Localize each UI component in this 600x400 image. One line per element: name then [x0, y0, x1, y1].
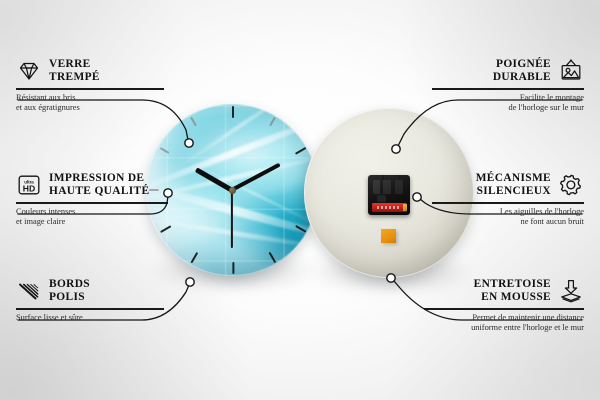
feature-divider — [16, 88, 164, 89]
feature-description: Permet de maintenir une distance uniform… — [424, 313, 584, 334]
second-hand — [231, 190, 233, 248]
feature-header: BORDS POLIS — [16, 278, 164, 305]
feature-verre-trempe: VERRE TREMPÉ Résistant aux bris et aux é… — [16, 58, 164, 114]
feature-poignee-durable: POIGNÉE DURABLE Facilite le montage de l… — [432, 58, 584, 114]
hands-center-cap — [229, 187, 236, 194]
feature-impression-haute-qualite: ultra HD IMPRESSION DE HAUTE QUALITÉ Cou… — [16, 172, 168, 228]
ultra-hd-icon-main-text: HD — [23, 184, 35, 194]
gear-icon — [558, 172, 584, 198]
aa-battery — [372, 203, 407, 212]
feature-header: ENTRETOISE EN MOUSSE — [424, 278, 584, 305]
ultra-hd-icon: ultra HD — [16, 172, 42, 198]
feature-description: Facilite le montage de l'horloge sur le … — [432, 93, 584, 114]
feature-title: ENTRETOISE EN MOUSSE — [474, 278, 551, 305]
feature-title: IMPRESSION DE HAUTE QUALITÉ — [49, 172, 149, 199]
feature-description: Surface lisse et sûre — [16, 313, 164, 323]
foam-spacer-icon — [558, 278, 584, 304]
clock-front-face[interactable] — [146, 104, 318, 276]
quartz-mechanism-box — [368, 175, 410, 215]
feature-title: POIGNÉE DURABLE — [493, 58, 551, 85]
feature-mecanisme-silencieux: MÉCANISME SILENCIEUX Les aiguilles de l'… — [432, 172, 584, 228]
feature-entretoise-en-mousse: ENTRETOISE EN MOUSSE Permet de maintenir… — [424, 278, 584, 334]
battery-label — [377, 206, 399, 209]
feature-header: ultra HD IMPRESSION DE HAUTE QUALITÉ — [16, 172, 168, 199]
polished-edges-icon — [16, 278, 42, 304]
feature-description: Résistant aux bris et aux égratignures — [16, 93, 164, 114]
feature-description: Les aiguilles de l'horloge ne font aucun… — [432, 207, 584, 228]
feature-title: MÉCANISME SILENCIEUX — [476, 172, 551, 199]
feature-header: VERRE TREMPÉ — [16, 58, 164, 85]
diamond-icon — [16, 58, 42, 84]
feature-title: VERRE TREMPÉ — [49, 58, 100, 85]
feature-header: MÉCANISME SILENCIEUX — [432, 172, 584, 199]
feature-divider — [16, 308, 164, 309]
feature-title: BORDS POLIS — [49, 278, 90, 305]
feature-bords-polis: BORDS POLIS Surface lisse et sûre — [16, 278, 164, 323]
feature-header: POIGNÉE DURABLE — [432, 58, 584, 85]
time-set-knob — [377, 195, 386, 202]
feature-divider — [432, 202, 584, 203]
mechanism-emboss — [373, 180, 403, 194]
infographic-canvas: VERRE TREMPÉ Résistant aux bris et aux é… — [0, 0, 600, 400]
feature-divider — [16, 202, 168, 203]
feature-divider — [432, 88, 584, 89]
hanging-frame-icon — [558, 58, 584, 84]
feature-description: Couleurs intenses et image claire — [16, 207, 168, 228]
feature-divider — [424, 308, 584, 309]
foam-spacer-pad — [381, 229, 396, 243]
hour-tick — [232, 262, 234, 274]
